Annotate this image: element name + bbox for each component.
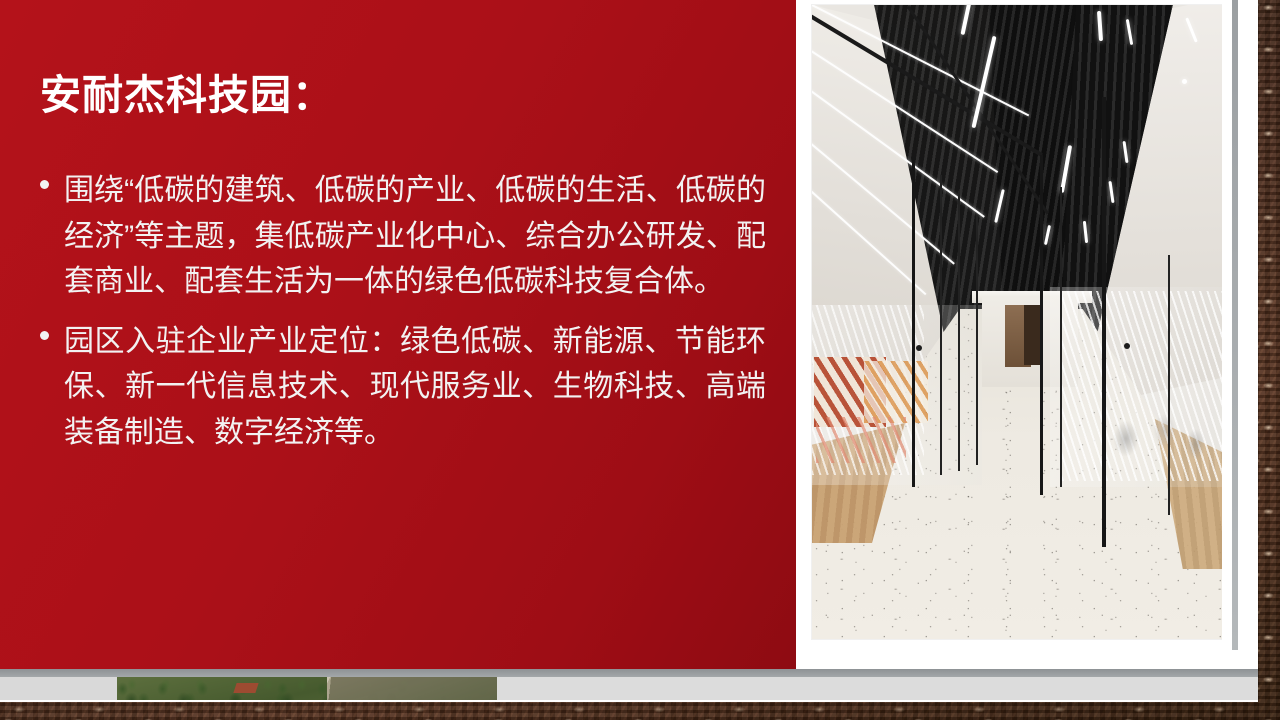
aerial-buildings	[327, 677, 497, 702]
wall-art-orange	[864, 361, 928, 423]
bullet-text: 园区入驻企业产业定位：绿色低碳、新能源、节能环保、新一代信息技术、现代服务业、生…	[64, 325, 766, 449]
bullet-text: 围绕“低碳的建筑、低碳的产业、低碳的生活、低碳的经济”等主题，集低碳产业化中心、…	[64, 174, 766, 298]
aerial-red-roof	[233, 683, 258, 693]
glass-mullion	[1060, 187, 1062, 487]
far-opening	[1024, 305, 1040, 365]
glass-mullion	[958, 191, 960, 471]
glass-mullion	[1168, 255, 1170, 515]
bullet-dot-icon	[40, 331, 49, 340]
downlight	[1182, 79, 1187, 84]
aerial-park-photo	[117, 677, 497, 702]
door-hardware-icon	[916, 345, 922, 351]
list-item: 围绕“低碳的建筑、低碳的产业、低碳的生活、低碳的经济”等主题，集低碳产业化中心、…	[36, 168, 766, 305]
glass-mullion	[912, 157, 915, 487]
vertical-rule	[1232, 0, 1238, 650]
list-item: 园区入驻企业产业定位：绿色低碳、新能源、节能环保、新一代信息技术、现代服务业、生…	[36, 319, 766, 456]
red-content-panel: 安耐杰科技园： 围绕“低碳的建筑、低碳的产业、低碳的生活、低碳的经济”等主题，集…	[0, 0, 796, 670]
bullet-dot-icon	[40, 180, 49, 189]
footer-edge	[0, 700, 1258, 702]
wall-art-pink	[816, 417, 906, 463]
office-chairs	[1090, 377, 1210, 489]
office-corridor-photo	[812, 5, 1222, 639]
footer-block-right	[497, 677, 1258, 700]
door-hardware-icon	[1124, 343, 1130, 349]
bullet-list: 围绕“低碳的建筑、低碳的产业、低碳的生活、低碳的经济”等主题，集低碳产业化中心、…	[36, 168, 766, 470]
page-title: 安耐杰科技园：	[40, 72, 334, 119]
glass-mullion	[1040, 155, 1043, 495]
office-corridor-photo-frame	[812, 5, 1222, 639]
footer-block-left	[0, 677, 117, 700]
slide-stage: 安耐杰科技园： 围绕“低碳的建筑、低碳的产业、低碳的生活、低碳的经济”等主题，集…	[0, 0, 1280, 720]
glass-mullion	[1102, 97, 1106, 547]
glass-mullion	[940, 175, 942, 475]
slide-canvas: 安耐杰科技园： 围绕“低碳的建筑、低碳的产业、低碳的生活、低碳的经济”等主题，集…	[0, 0, 1258, 702]
page-gutter	[1222, 0, 1258, 702]
glass-mullion	[976, 215, 978, 465]
